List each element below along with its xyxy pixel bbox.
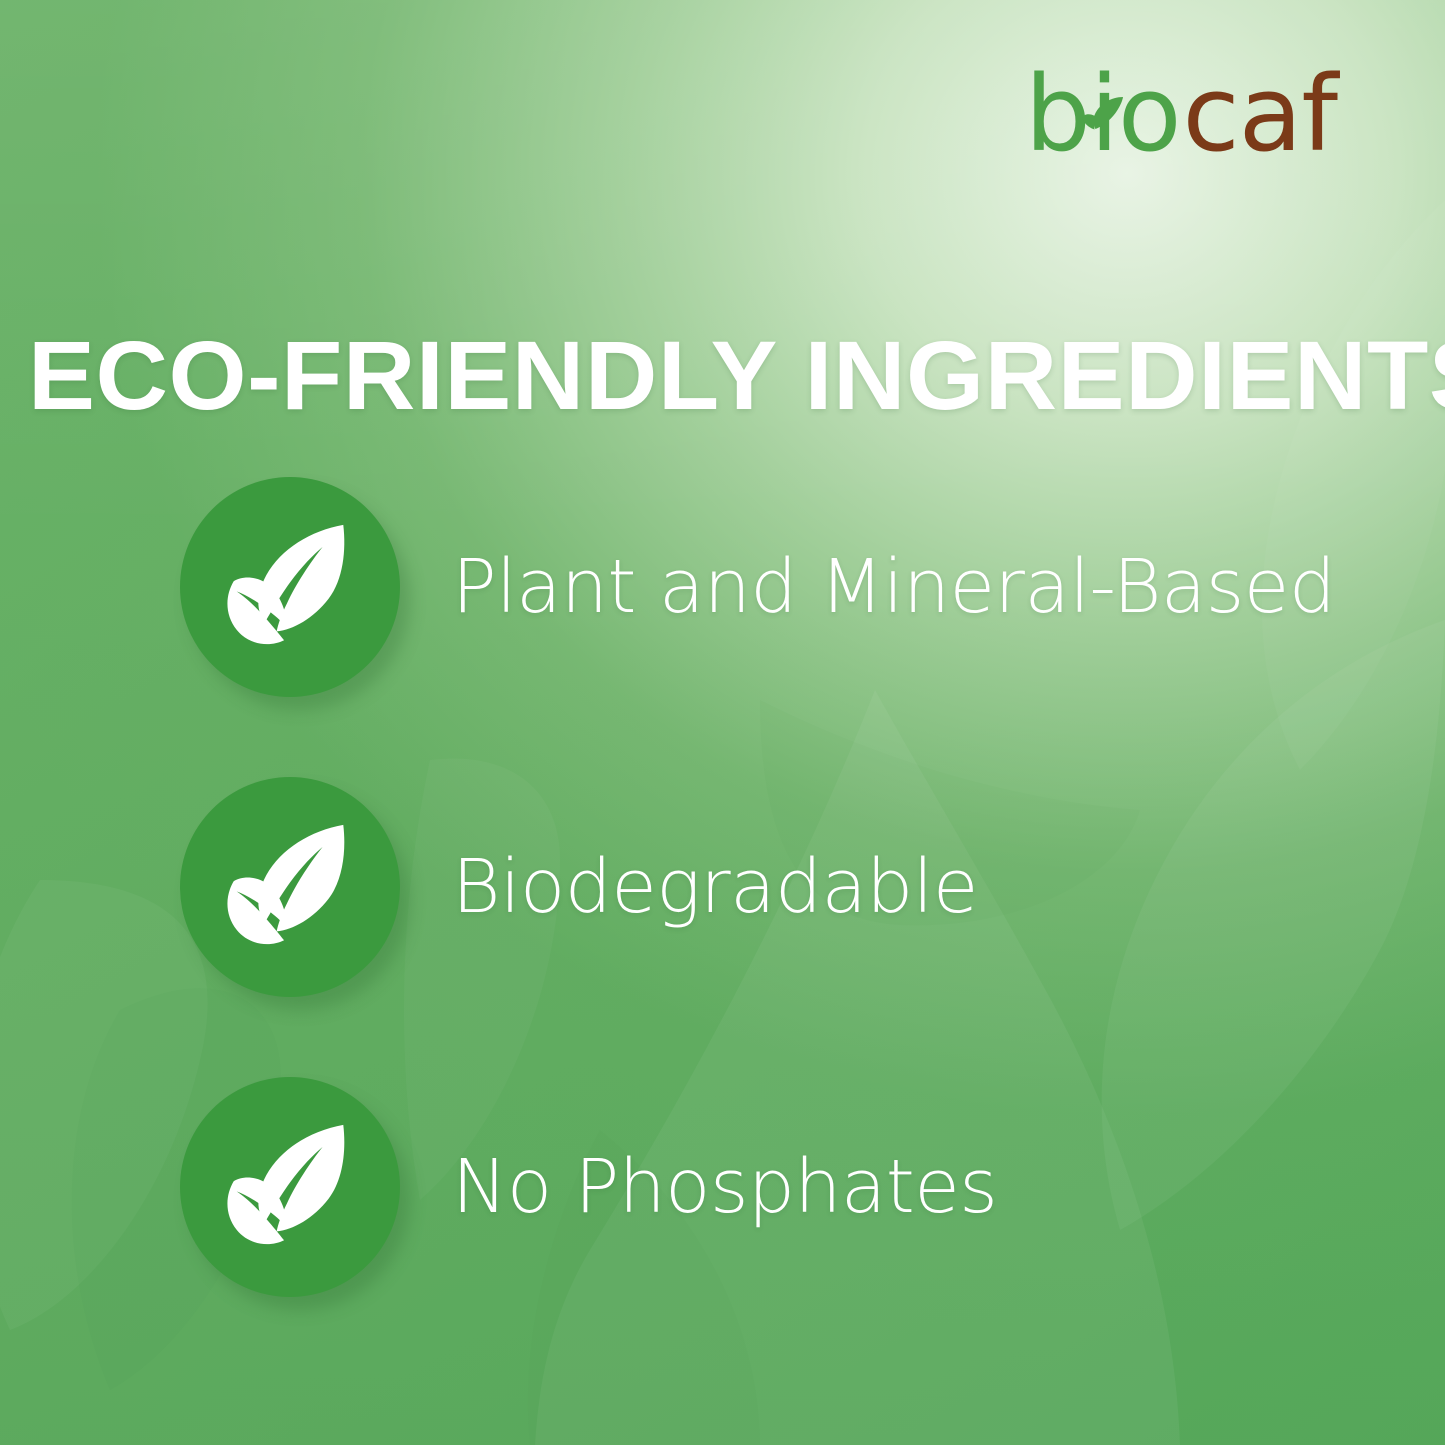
two-leaves-icon — [180, 477, 400, 697]
list-item-label: Biodegradable — [452, 850, 978, 924]
list-item-label: Plant and Mineral-Based — [452, 550, 1335, 624]
list-item: Biodegradable — [180, 777, 978, 997]
list-item-label: No Phosphates — [452, 1150, 997, 1224]
eco-friendly-ingredients-poster: bio caf ECO-FRIENDLY INGREDIENTS Plant a… — [0, 0, 1445, 1445]
list-item: Plant and Mineral-Based — [180, 477, 1335, 697]
feature-list: Plant and Mineral-Based Biodegradable No… — [0, 0, 1445, 1445]
two-leaves-icon — [180, 777, 400, 997]
two-leaves-icon — [180, 1077, 400, 1297]
list-item: No Phosphates — [180, 1077, 997, 1297]
